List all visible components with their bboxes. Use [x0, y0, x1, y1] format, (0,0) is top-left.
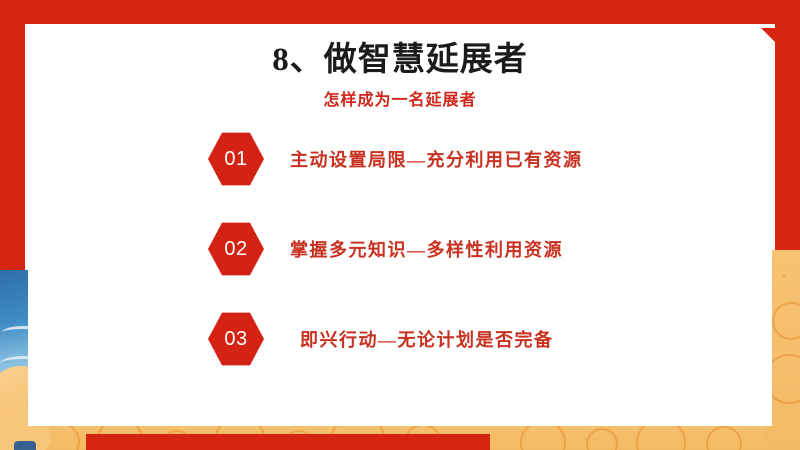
hexagon-icon: 03 [208, 311, 264, 367]
bullet-list: 01 主动设置局限—充分利用已有资源 02 掌握多元知识—多样性利用资源 03 [28, 126, 772, 396]
hexagon-badge-02: 02 [208, 221, 264, 277]
list-item[interactable]: 02 掌握多元知识—多样性利用资源 [28, 216, 772, 306]
list-item-label: 主动设置局限—充分利用已有资源 [290, 146, 583, 172]
hexagon-badge-03: 03 [208, 311, 264, 367]
list-item-number: 02 [224, 238, 247, 261]
slide-content: 8、做智慧延展者 怎样成为一名延展者 01 主动设置局限—充分利用已有资源 02… [28, 26, 772, 426]
hexagon-icon: 01 [208, 131, 264, 187]
list-item-label: 掌握多元知识—多样性利用资源 [290, 236, 563, 262]
page-title: 8、做智慧延展者 [28, 32, 772, 80]
list-item[interactable]: 03 即兴行动—无论计划是否完备 [28, 306, 772, 396]
hexagon-badge-01: 01 [208, 131, 264, 187]
frame-top-border [0, 0, 800, 24]
list-item[interactable]: 01 主动设置局限—充分利用已有资源 [28, 126, 772, 216]
list-item-number: 03 [224, 328, 247, 351]
page-subtitle: 怎样成为一名延展者 [28, 86, 772, 110]
slide-canvas: 8、做智慧延展者 怎样成为一名延展者 01 主动设置局限—充分利用已有资源 02… [0, 0, 800, 450]
list-item-label: 即兴行动—无论计划是否完备 [300, 326, 554, 352]
red-accent-bar [86, 434, 490, 450]
hexagon-icon: 02 [208, 221, 264, 277]
list-item-number: 01 [224, 148, 247, 171]
blue-accent-shape [14, 441, 36, 450]
